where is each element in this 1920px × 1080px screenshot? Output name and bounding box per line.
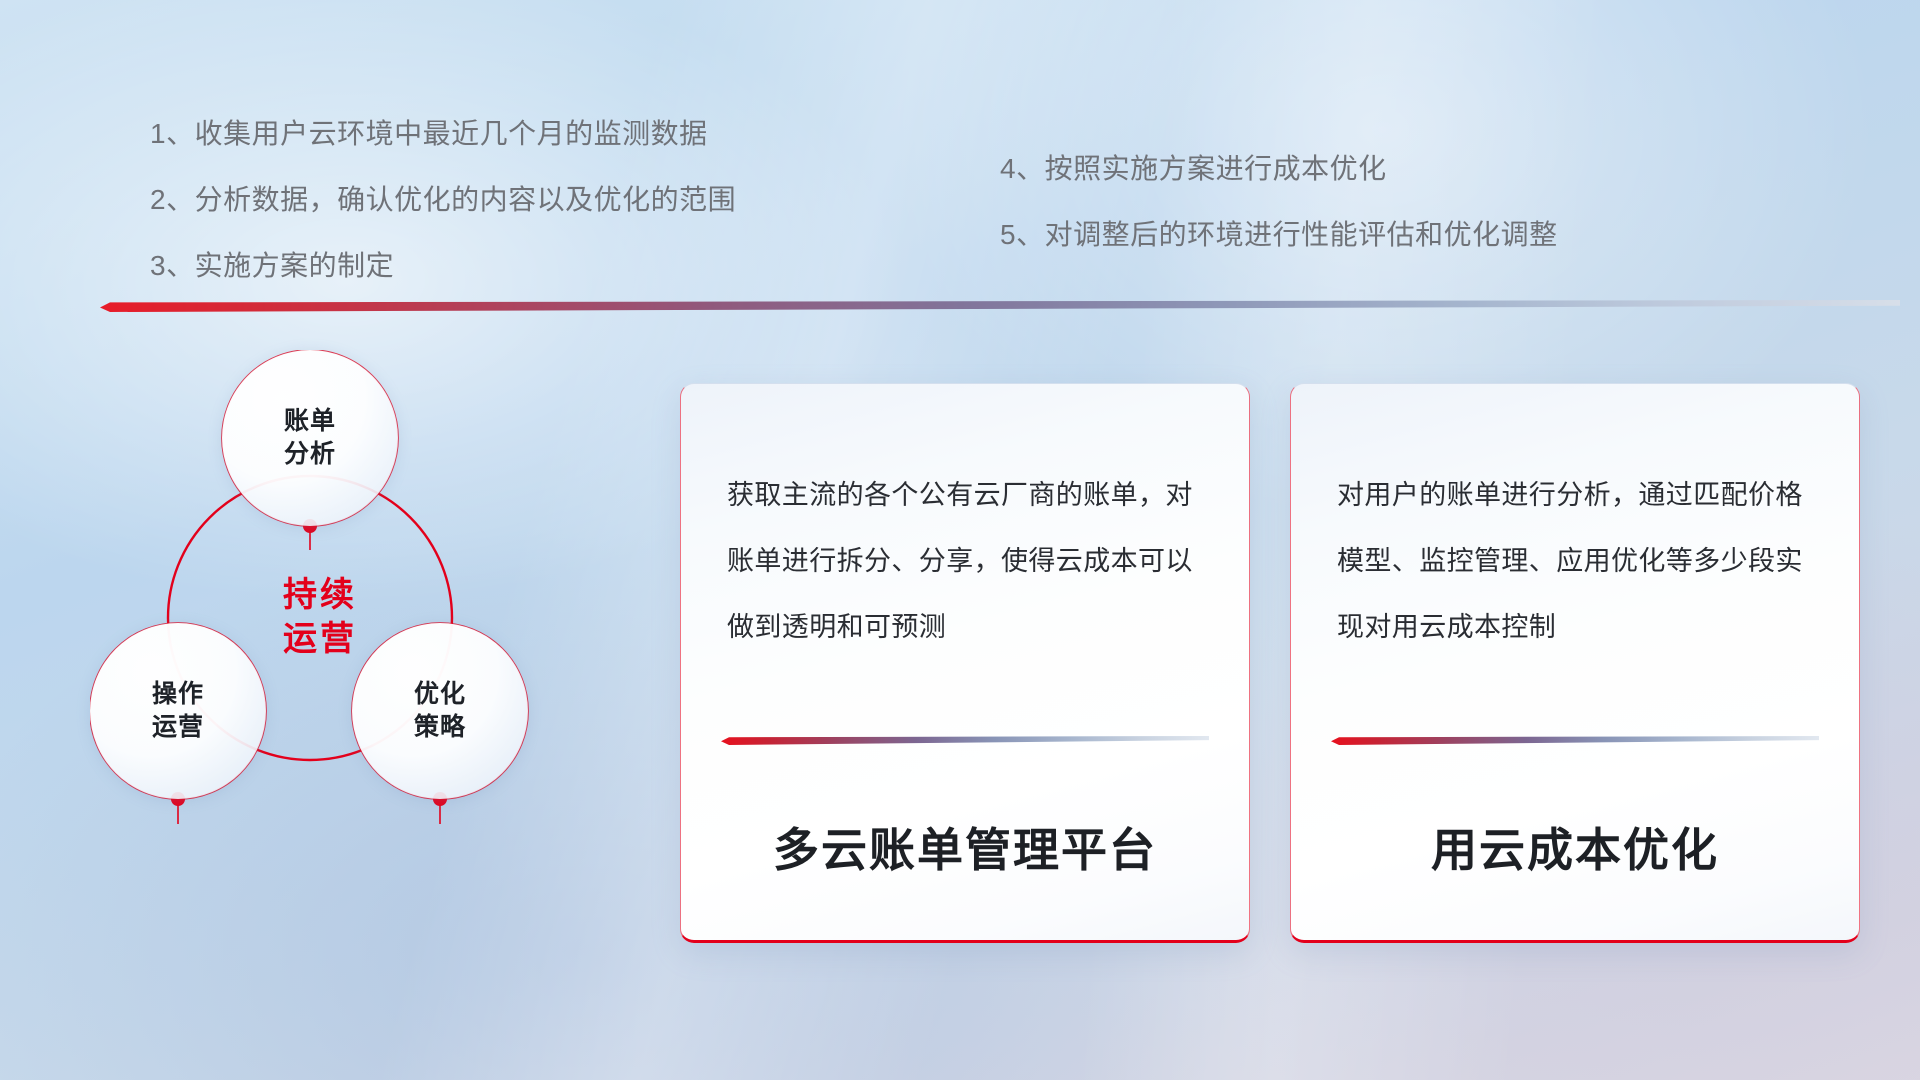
continuous-operation-diagram: 账单 分析 操作 运营 优化 策略 持续 运营 <box>90 350 650 950</box>
venn-center-line1: 持续 <box>283 574 357 618</box>
slide-canvas: 1、收集用户云环境中最近几个月的监测数据 2、分析数据，确认优化的内容以及优化的… <box>0 0 1920 1080</box>
venn-bubble-top-line2: 分析 <box>284 438 336 471</box>
venn-center-line2: 运营 <box>283 618 357 662</box>
card-2-title: 用云成本优化 <box>1291 814 1859 880</box>
steps-left-column: 1、收集用户云环境中最近几个月的监测数据 2、分析数据，确认优化的内容以及优化的… <box>150 120 736 280</box>
card-1-title: 多云账单管理平台 <box>681 814 1249 880</box>
step-item-4: 4、按照实施方案进行成本优化 <box>1000 155 1558 183</box>
card-2-body: 对用户的账单进行分析，通过匹配价格模型、监控管理、应用优化等多少段实现对用云成本… <box>1337 462 1819 660</box>
card-1-body: 获取主流的各个公有云厂商的账单，对账单进行拆分、分享，使得云成本可以做到透明和可… <box>727 462 1209 660</box>
steps-right-column: 4、按照实施方案进行成本优化 5、对调整后的环境进行性能评估和优化调整 <box>1000 155 1558 249</box>
card-1-divider <box>721 736 1209 745</box>
venn-bubble-right-line1: 优化 <box>414 678 466 711</box>
venn-bubble-right-line2: 策略 <box>414 711 466 744</box>
venn-center-label: 持续 运营 <box>230 563 410 673</box>
venn-bubble-left-line2: 运营 <box>152 711 204 744</box>
section-divider <box>100 300 1900 312</box>
step-item-1: 1、收集用户云环境中最近几个月的监测数据 <box>150 120 736 148</box>
step-item-5: 5、对调整后的环境进行性能评估和优化调整 <box>1000 221 1558 249</box>
step-item-3: 3、实施方案的制定 <box>150 252 736 280</box>
venn-bubble-left-line1: 操作 <box>152 678 204 711</box>
step-item-2: 2、分析数据，确认优化的内容以及优化的范围 <box>150 186 736 214</box>
venn-bubble-billing-analysis[interactable]: 账单 分析 <box>222 350 398 526</box>
card-multicloud-billing-platform[interactable]: 获取主流的各个公有云厂商的账单，对账单进行拆分、分享，使得云成本可以做到透明和可… <box>680 383 1250 943</box>
card-cloud-cost-optimization[interactable]: 对用户的账单进行分析，通过匹配价格模型、监控管理、应用优化等多少段实现对用云成本… <box>1290 383 1860 943</box>
card-2-divider <box>1331 736 1819 745</box>
venn-bubble-top-line1: 账单 <box>284 405 336 438</box>
